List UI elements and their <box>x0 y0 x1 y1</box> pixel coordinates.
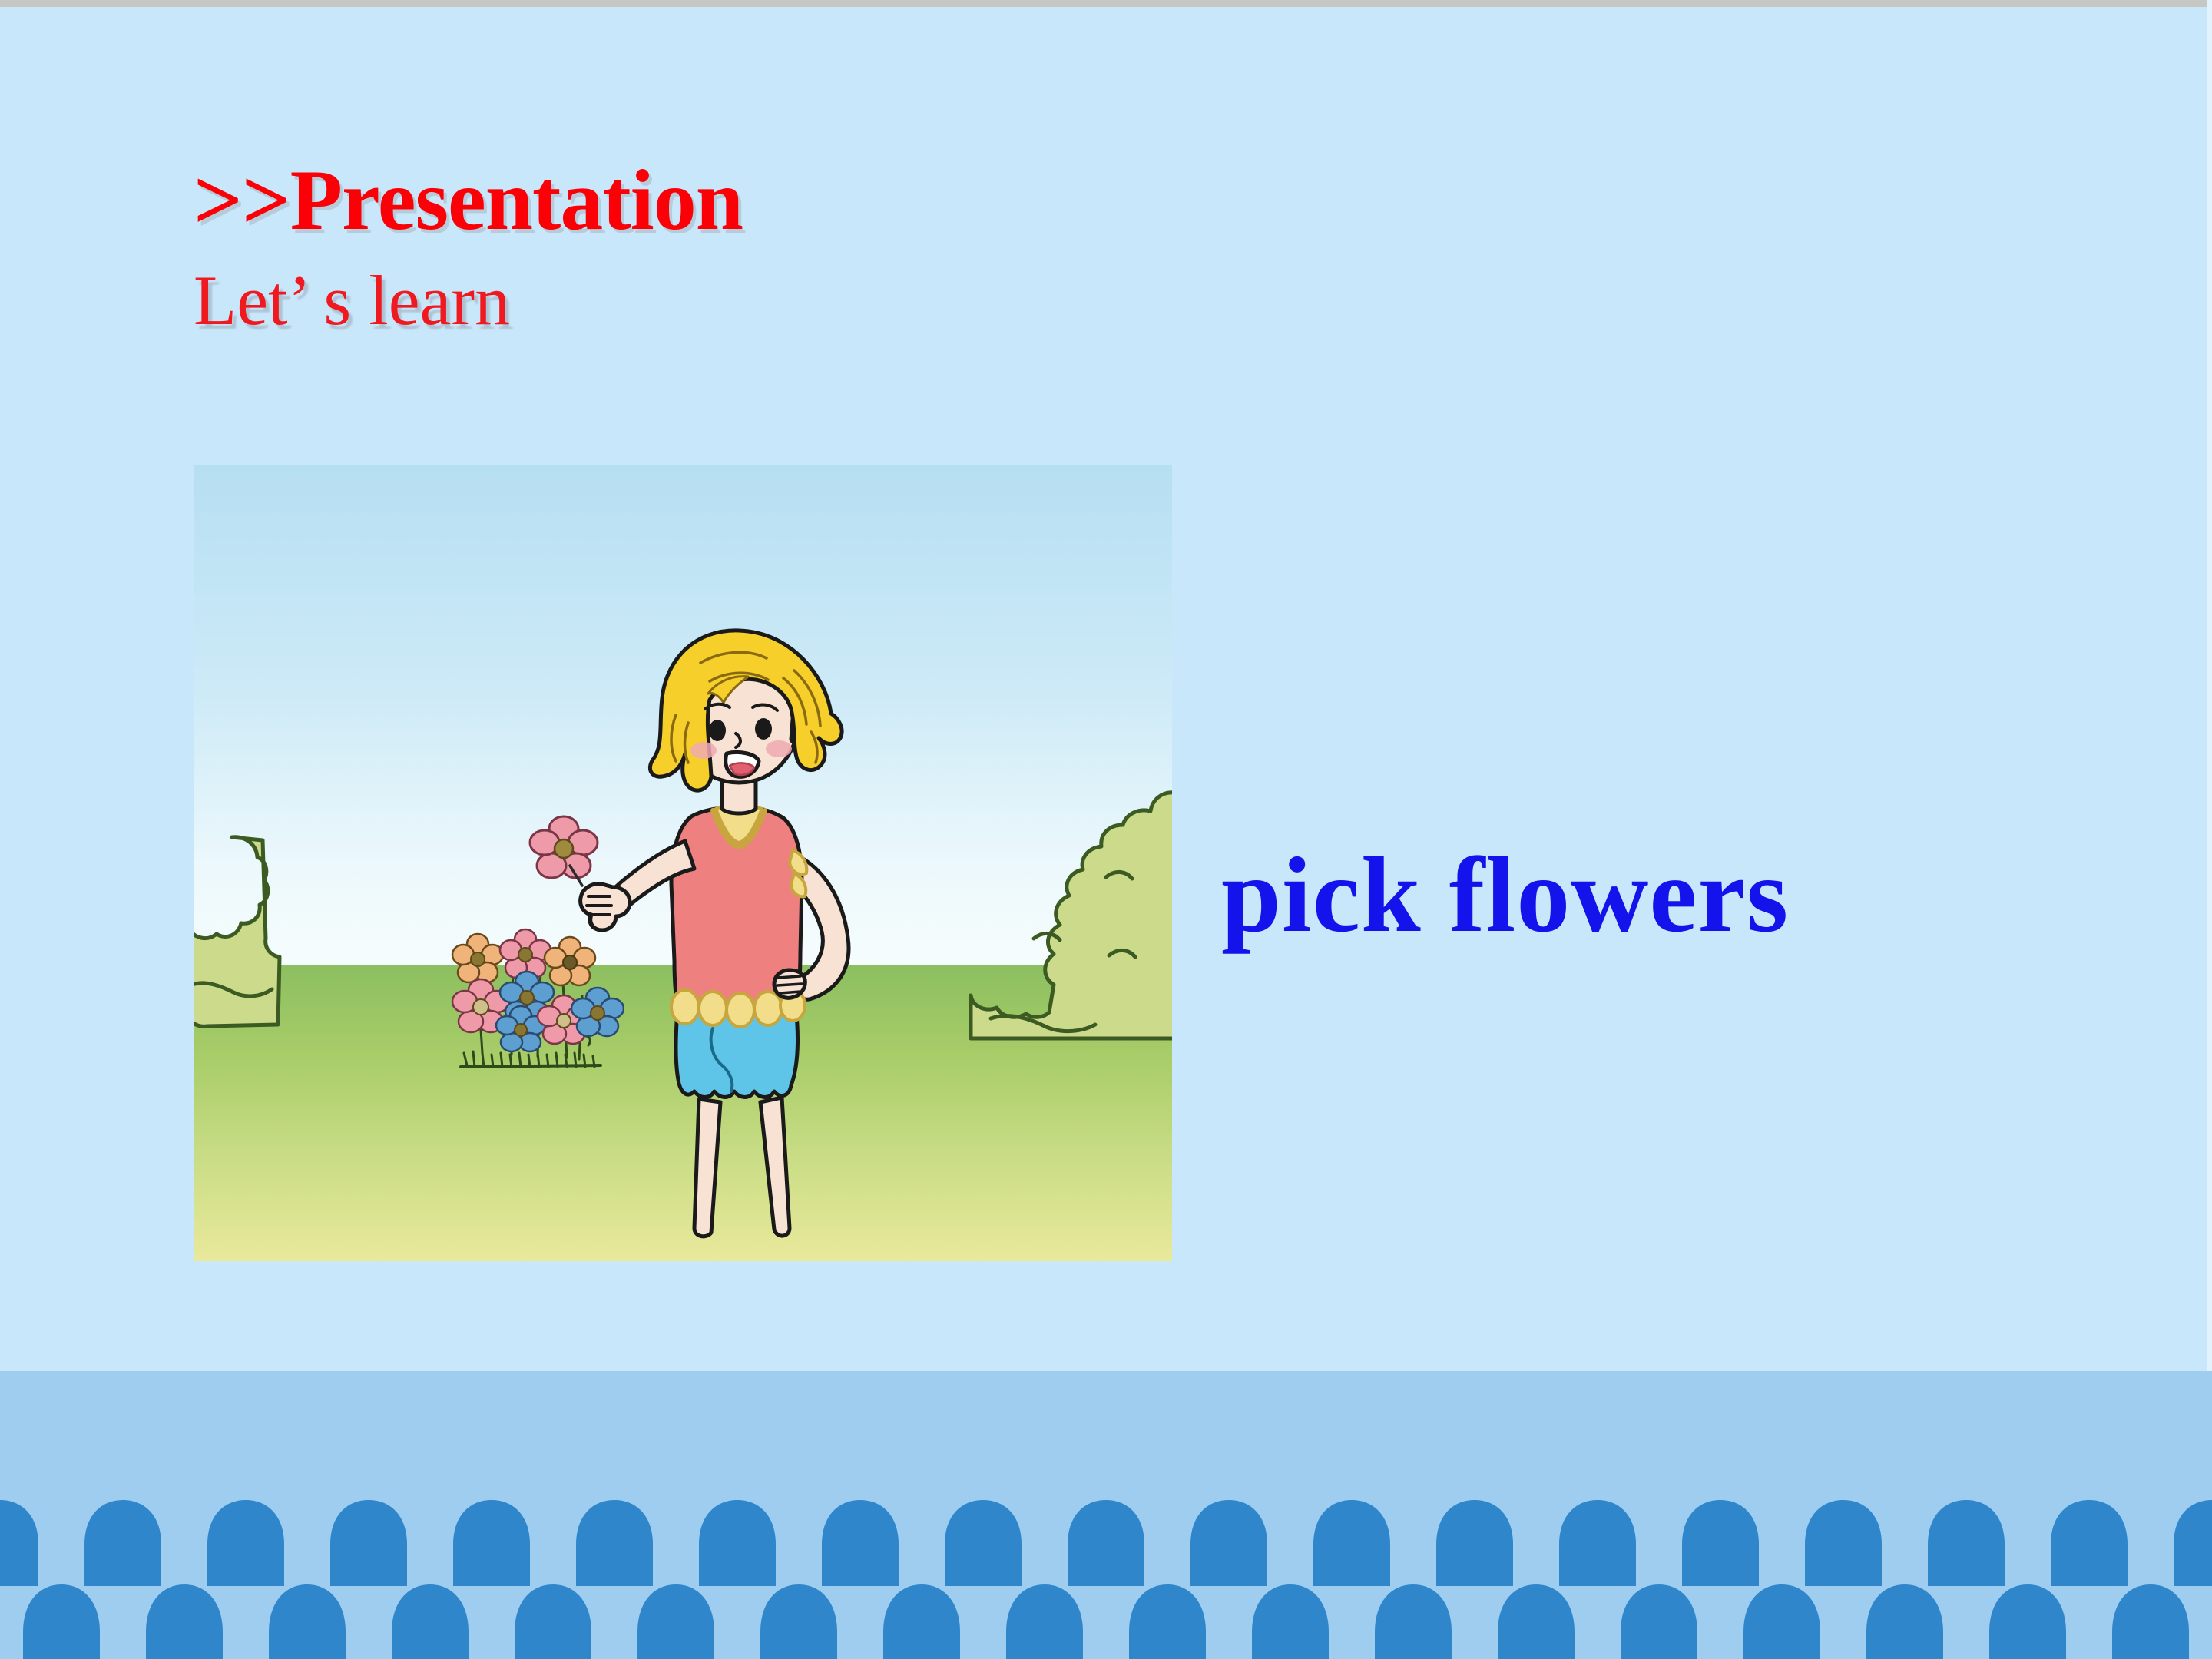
right-border-strip <box>2207 0 2212 1375</box>
slide-canvas: >>Presentation Let’ s learn pick flowers <box>0 0 2212 1659</box>
page-title: >>Presentation <box>194 157 743 243</box>
bottom-decoration-band <box>0 1371 2212 1659</box>
arch-row-bottom <box>0 1584 2212 1659</box>
top-border-strip <box>0 0 2212 7</box>
girl-character-icon <box>562 623 916 1257</box>
vocabulary-word: pick flowers <box>1221 833 1789 957</box>
illustration-image <box>194 465 1172 1261</box>
page-subtitle: Let’ s learn <box>194 265 743 336</box>
arch-row-top <box>0 1500 2212 1586</box>
heading-block: >>Presentation Let’ s learn <box>194 157 743 336</box>
bush-right-icon <box>917 788 1172 1041</box>
bush-left-icon <box>194 834 286 1034</box>
